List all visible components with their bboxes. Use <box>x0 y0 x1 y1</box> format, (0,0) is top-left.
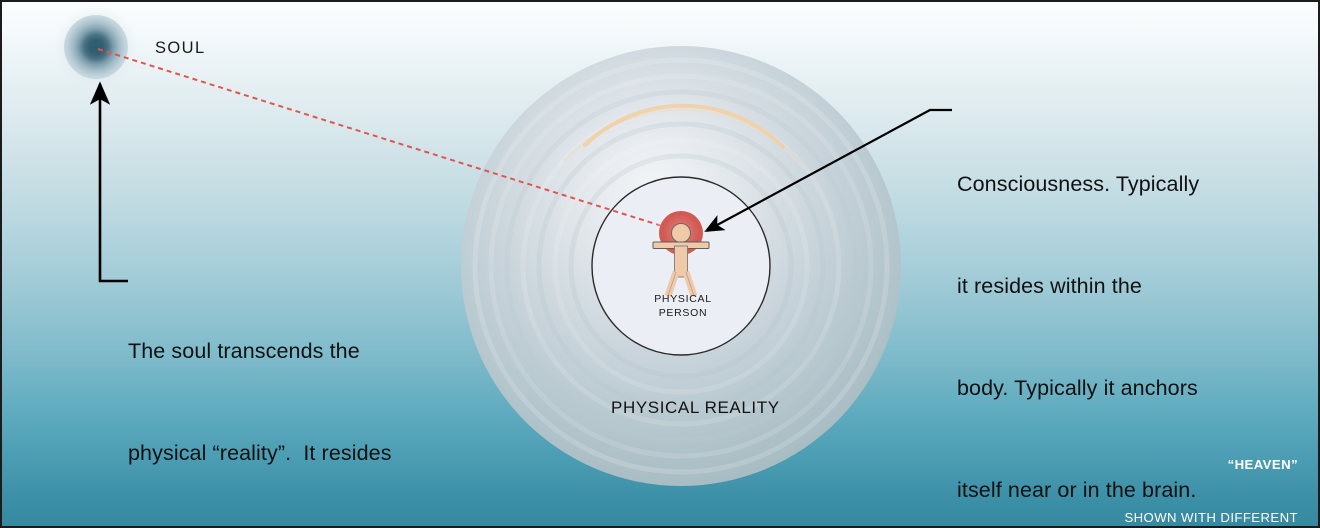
physical-person-label-line: PERSON <box>652 306 714 320</box>
consciousness-annotation-line: Consciousness. Typically <box>957 167 1247 201</box>
heaven-caption-line: “HEAVEN” <box>1110 456 1298 474</box>
physical-person-label-line: PHYSICAL <box>652 292 714 306</box>
soul-label: SOUL <box>155 39 206 58</box>
soul-orb <box>54 5 138 89</box>
soul-annotation-line: The soul transcends the <box>128 334 458 368</box>
heaven-caption: “HEAVEN” SHOWN WITH DIFFERENT ENERGY LEV… <box>1110 421 1298 528</box>
physical-person-label: PHYSICAL PERSON <box>652 292 714 320</box>
soul-callout-arrow <box>100 84 128 281</box>
consciousness-annotation-line: it resides within the <box>957 269 1247 303</box>
soul-annotation-text: The soul transcends the physical “realit… <box>128 266 458 528</box>
diagram-canvas: SOUL The soul transcends the physical “r… <box>0 0 1320 528</box>
heaven-caption-line: SHOWN WITH DIFFERENT <box>1110 509 1298 527</box>
consciousness-annotation-line: body. Typically it anchors <box>957 371 1247 405</box>
soul-annotation-line: physical “reality”. It resides <box>128 436 458 470</box>
physical-reality-label: PHYSICAL REALITY <box>611 398 780 418</box>
